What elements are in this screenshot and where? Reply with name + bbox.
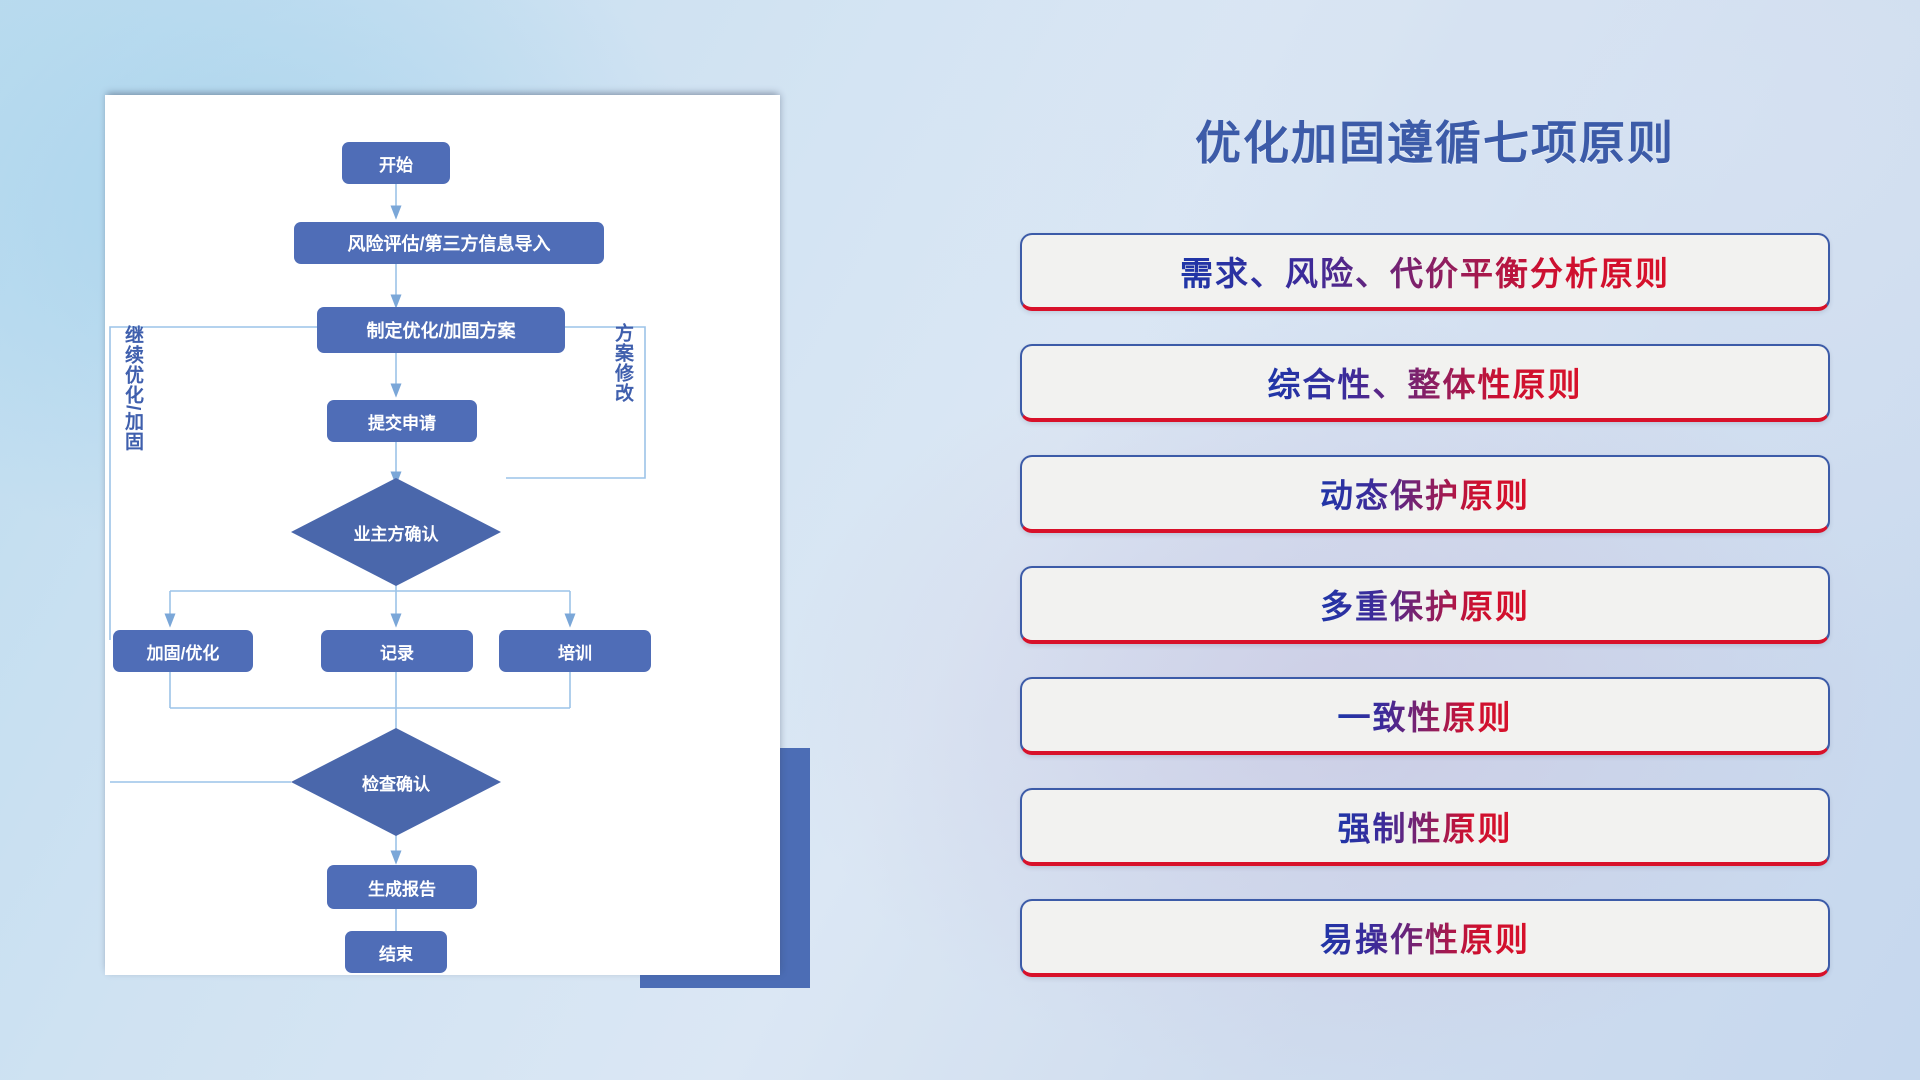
flow-node-end-label: 结束 (379, 940, 413, 965)
flow-node-submit-application[interactable]: 提交申请 (327, 400, 477, 442)
flow-node-start[interactable]: 开始 (342, 142, 450, 184)
flow-node-generate-report[interactable]: 生成报告 (327, 865, 477, 909)
flow-node-record[interactable]: 记录 (321, 630, 473, 672)
principle-card-3-label: 动态保护原则 (1320, 469, 1530, 517)
principle-card-3[interactable]: 动态保护原则 (1020, 455, 1830, 533)
flow-node-reinforce[interactable]: 加固/优化 (113, 630, 253, 672)
flow-node-generate-report-label: 生成报告 (368, 875, 436, 900)
flow-node-training-label: 培训 (558, 639, 592, 664)
flow-node-submit-application-label: 提交申请 (368, 409, 436, 434)
principle-card-2[interactable]: 综合性、整体性原则 (1020, 344, 1830, 422)
flow-edge-label-continue-optimize: 继续优化/加固 (122, 325, 142, 451)
principle-card-7-label: 易操作性原则 (1320, 913, 1530, 961)
flow-node-risk-assessment[interactable]: 风险评估/第三方信息导入 (294, 222, 604, 264)
principle-card-5[interactable]: 一致性原则 (1020, 677, 1830, 755)
flow-decision-owner-confirm-label: 业主方确认 (354, 520, 439, 545)
principles-title: 优化加固遵循七项原则 (1155, 105, 1715, 175)
flow-node-plan[interactable]: 制定优化/加固方案 (317, 307, 565, 353)
flow-edge-label-plan-revision: 方案修改 (612, 323, 632, 403)
principle-card-2-label: 综合性、整体性原则 (1268, 358, 1583, 406)
principles-list: 需求、风险、代价平衡分析原则 综合性、整体性原则 动态保护原则 多重保护原则 一… (1020, 233, 1830, 1010)
flowchart-card: 开始 风险评估/第三方信息导入 制定优化/加固方案 提交申请 业主方确认 加固/… (105, 95, 780, 975)
flow-node-training[interactable]: 培训 (499, 630, 651, 672)
principle-card-5-label: 一致性原则 (1338, 691, 1513, 739)
principle-card-4[interactable]: 多重保护原则 (1020, 566, 1830, 644)
principle-card-6[interactable]: 强制性原则 (1020, 788, 1830, 866)
flow-decision-check-confirm-label: 检查确认 (362, 770, 430, 795)
principle-card-4-label: 多重保护原则 (1320, 580, 1530, 628)
principle-card-6-label: 强制性原则 (1338, 802, 1513, 850)
principle-card-7[interactable]: 易操作性原则 (1020, 899, 1830, 977)
flow-node-reinforce-label: 加固/优化 (147, 639, 220, 664)
principle-card-1-label: 需求、风险、代价平衡分析原则 (1180, 247, 1670, 295)
flow-node-risk-assessment-label: 风险评估/第三方信息导入 (348, 230, 551, 256)
principle-card-1[interactable]: 需求、风险、代价平衡分析原则 (1020, 233, 1830, 311)
flow-node-start-label: 开始 (379, 151, 413, 176)
slide-canvas: 开始 风险评估/第三方信息导入 制定优化/加固方案 提交申请 业主方确认 加固/… (0, 0, 1920, 1080)
flow-node-plan-label: 制定优化/加固方案 (366, 317, 515, 343)
principles-panel: 优化加固遵循七项原则 需求、风险、代价平衡分析原则 综合性、整体性原则 动态保护… (1020, 105, 1830, 1005)
flow-node-record-label: 记录 (380, 639, 414, 664)
flow-node-end[interactable]: 结束 (345, 931, 447, 973)
